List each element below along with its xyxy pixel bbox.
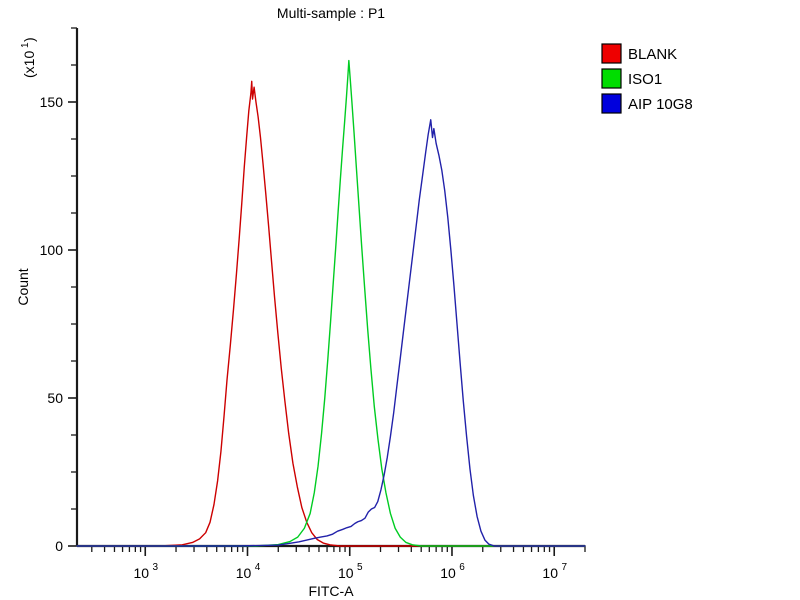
legend-swatch-blank [602,44,621,63]
chart-title: Multi-sample : P1 [277,5,385,21]
x-tick-exponent-1: 4 [255,562,261,573]
y-tick-label-1: 50 [47,390,63,406]
series-curve-aip-10g8 [77,120,585,546]
x-tick-exponent-3: 6 [459,562,465,573]
legend-label-blank: BLANK [628,46,677,63]
y-axis-unit: (x101) [20,37,37,78]
series-curve-iso1 [77,61,585,546]
legend-label-iso1: ISO1 [628,71,662,88]
y-tick-label-3: 150 [40,94,64,110]
x-tick-exponent-0: 3 [152,562,158,573]
x-tick-label-4: 10 [542,565,558,581]
svg-text:): ) [21,37,37,42]
x-tick-label-2: 10 [338,565,354,581]
x-axis-title: FITC-A [308,583,354,599]
legend-swatch-aip-10g8 [602,94,621,113]
x-tick-label-0: 10 [133,565,149,581]
x-tick-exponent-2: 5 [357,562,363,573]
y-tick-label-2: 100 [40,242,64,258]
legend-swatch-iso1 [602,69,621,88]
y-tick-label-0: 0 [55,538,63,554]
x-tick-label-1: 10 [236,565,252,581]
chart-canvas: Multi-sample : P1050100150Count(x101)103… [0,0,800,600]
x-tick-exponent-4: 7 [561,562,567,573]
flow-cytometry-histogram: Multi-sample : P1050100150Count(x101)103… [0,0,800,600]
x-tick-label-3: 10 [440,565,456,581]
y-axis-title: Count [15,268,31,305]
svg-text:(x10: (x10 [21,51,37,78]
legend-label-aip-10g8: AIP 10G8 [628,96,693,113]
